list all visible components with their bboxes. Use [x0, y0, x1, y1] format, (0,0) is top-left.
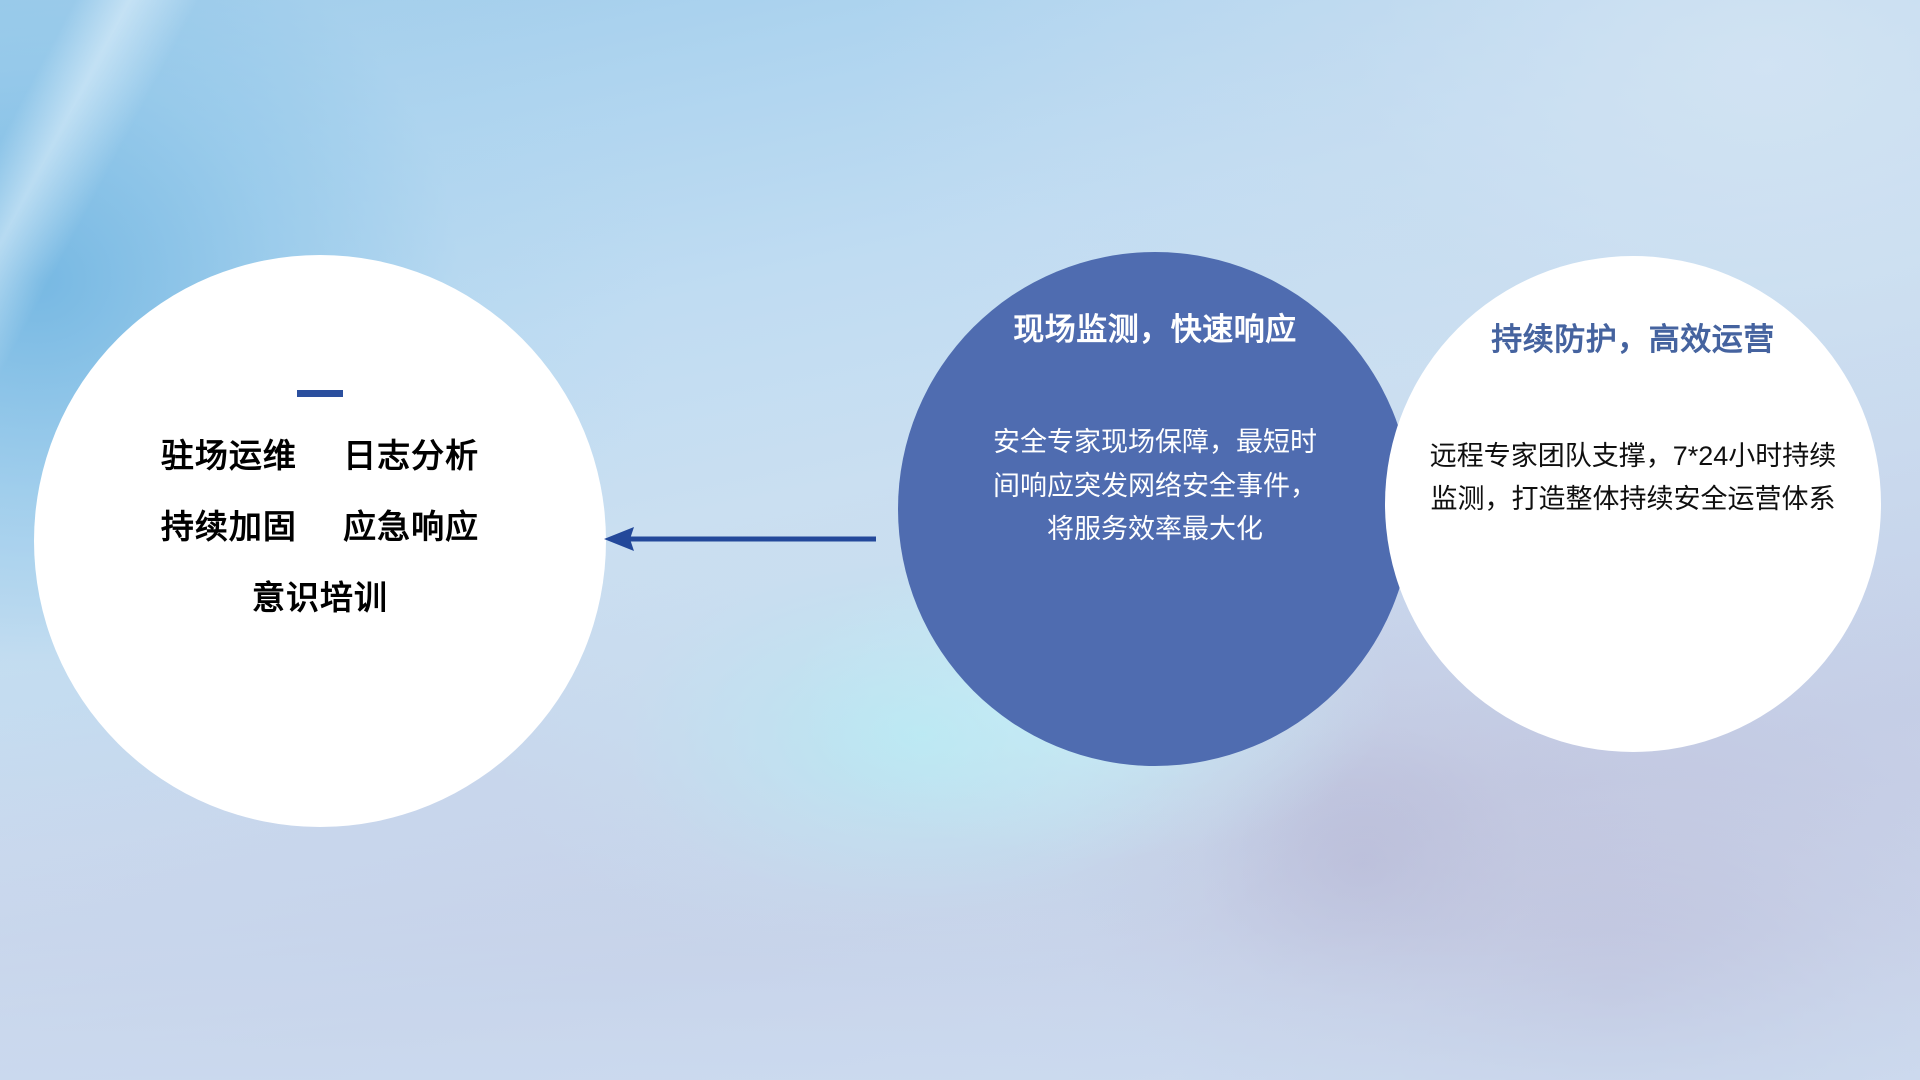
continuous-protection-content: 持续防护，高效运营 远程专家团队支撑，7*24小时持续监测，打造整体持续安全运营…	[1385, 256, 1881, 752]
onsite-monitoring-body: 安全专家现场保障，最短时间响应突发网络安全事件，将服务效率最大化	[990, 421, 1320, 552]
continuous-protection-title: 持续防护，高效运营	[1491, 314, 1775, 359]
arrow-left-icon	[600, 522, 880, 556]
capability-label: 应急响应	[343, 508, 479, 545]
continuous-protection-circle: 持续防护，高效运营 远程专家团队支撑，7*24小时持续监测，打造整体持续安全运营…	[1385, 256, 1881, 752]
capability-row: 持续加固 应急响应	[161, 510, 479, 543]
capability-row: 驻场运维 日志分析	[161, 439, 479, 472]
capability-label: 日志分析	[343, 437, 479, 474]
continuous-protection-body: 远程专家团队支撑，7*24小时持续监测，打造整体持续安全运营体系	[1418, 435, 1848, 521]
capabilities-content: 驻场运维 日志分析 持续加固 应急响应 意识培训	[34, 255, 606, 827]
capabilities-circle: 驻场运维 日志分析 持续加固 应急响应 意识培训	[34, 255, 606, 827]
horizontal-dash-icon	[297, 390, 343, 397]
capability-label: 意识培训	[252, 579, 388, 616]
onsite-monitoring-title: 现场监测，快速响应	[1013, 304, 1297, 349]
capability-label: 持续加固	[161, 508, 297, 545]
capability-label: 驻场运维	[161, 437, 297, 474]
onsite-monitoring-circle: 现场监测，快速响应 安全专家现场保障，最短时间响应突发网络安全事件，将服务效率最…	[898, 252, 1412, 766]
infographic-canvas: 驻场运维 日志分析 持续加固 应急响应 意识培训 现场监测，快速响应 安全专家现…	[0, 0, 1920, 1080]
capability-row: 意识培训	[252, 581, 388, 614]
onsite-monitoring-content: 现场监测，快速响应 安全专家现场保障，最短时间响应突发网络安全事件，将服务效率最…	[898, 252, 1412, 766]
